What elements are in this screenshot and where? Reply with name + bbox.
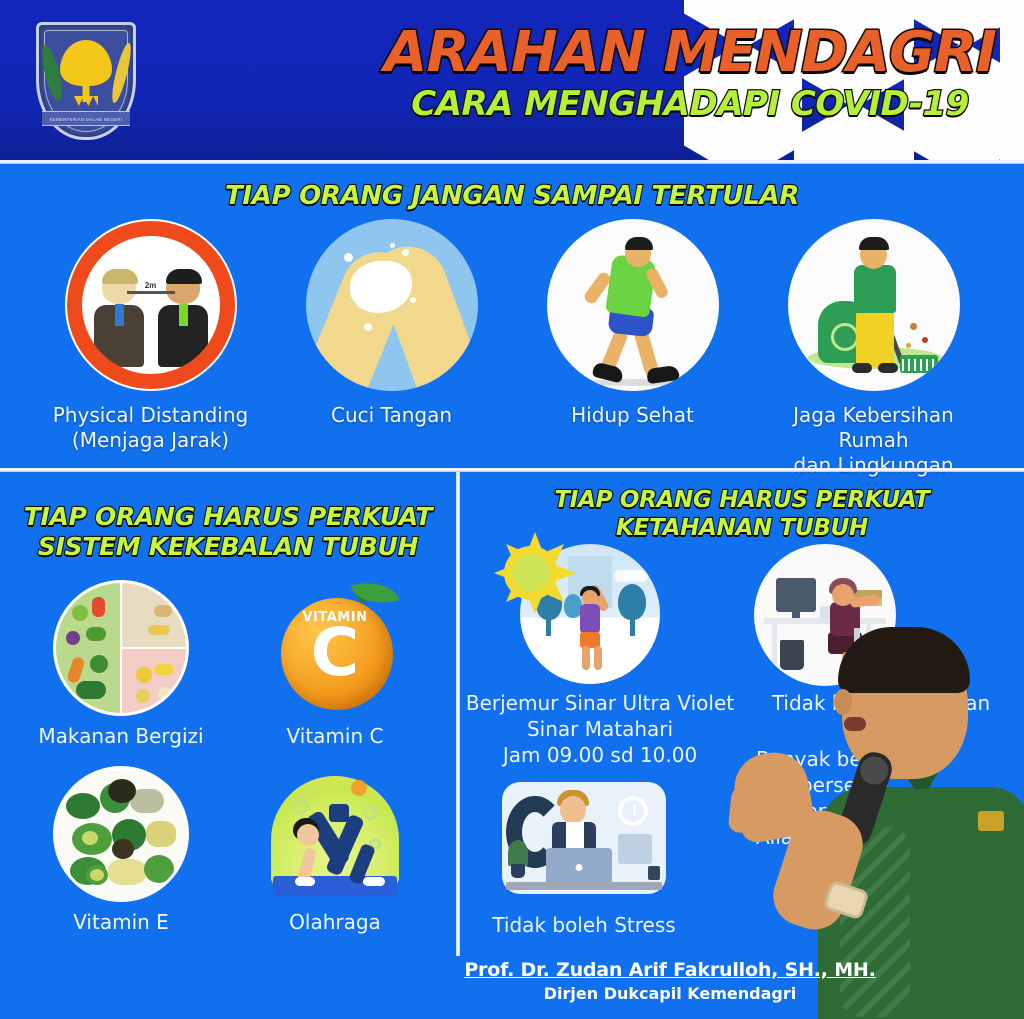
heading-line-1: TIAP ORANG HARUS PERKUAT <box>554 487 929 513</box>
salad-bowl-icon <box>53 766 189 902</box>
immunity-item-nutrition: Makanan Bergizi <box>14 580 228 748</box>
immunity-item-vitamin-c: VITAMIN C Vitamin C <box>228 580 442 748</box>
header-divider <box>0 160 1024 164</box>
immunity-item-label: Vitamin E <box>14 910 228 934</box>
vitamin-badge-letter: C <box>267 620 403 686</box>
stress-label: Tidak boleh Stress <box>472 912 696 938</box>
speaker-position: Dirjen Dukcapil Kemendagri <box>460 983 880 1005</box>
immunity-item-exercise: Olahraga <box>228 766 442 934</box>
prevention-item-label: Jaga Kebersihan Rumah dan Lingkungan <box>758 403 990 478</box>
kemendagri-emblem-icon: KEMENTERIAN DALAM NEGERI <box>36 22 136 140</box>
yoga-exercise-icon <box>267 766 403 902</box>
label-line-2: (Menjaga Jarak) <box>72 428 229 452</box>
prevention-heading: TIAP ORANG JANGAN SAMPAI TERTULAR <box>0 167 1024 211</box>
page-subtitle: CARA MENGHADAPI COVID-19 <box>380 84 1000 124</box>
prevention-item-wash-hands: Cuci Tangan <box>276 219 508 428</box>
prevention-item-label: Hidup Sehat <box>517 403 749 428</box>
label-line-1: Physical Distanding <box>53 403 249 427</box>
title-block: ARAHAN MENDAGRI CARA MENGHADAPI COVID-19 <box>380 24 1000 124</box>
physical-distancing-icon: 2m <box>65 219 237 391</box>
cleaning-person-icon <box>788 219 960 391</box>
label-line-3: Jam 09.00 sd 10.00 <box>503 743 697 767</box>
label-line-2: Sinar Matahari <box>527 717 673 741</box>
prevention-item-physical-distancing: 2m Physical Distanding (Menjaga Jarak) <box>35 219 267 453</box>
prevention-item-clean-home: Jaga Kebersihan Rumah dan Lingkungan <box>758 219 990 478</box>
prevention-item-label: Physical Distanding (Menjaga Jarak) <box>35 403 267 453</box>
wash-hands-icon <box>306 219 478 391</box>
running-person-icon <box>547 219 719 391</box>
prevention-item-healthy-living: Hidup Sehat <box>517 219 749 428</box>
section-immunity: TIAP ORANG HARUS PERKUAT SISTEM KEKEBALA… <box>0 472 456 1019</box>
speaker-name: Prof. Dr. Zudan Arif Fakrulloh, SH., MH. <box>460 957 880 983</box>
infographic-poster: KEMENTERIAN DALAM NEGERI ARAHAN MENDAGRI… <box>0 0 1024 1019</box>
emblem-ribbon-text: KEMENTERIAN DALAM NEGERI <box>42 112 130 127</box>
immunity-item-label: Makanan Bergizi <box>14 724 228 748</box>
label-line-1: Jaga Kebersihan Rumah <box>793 403 954 452</box>
stressed-at-laptop-icon <box>494 778 674 918</box>
immunity-item-vitamin-e: Vitamin E <box>14 766 228 934</box>
heading-line-2: SISTEM KEKEBALAN TUBUH <box>38 532 418 561</box>
section-resilience: TIAP ORANG HARUS PERKUAT KETAHANAN TUBUH <box>460 472 1024 1019</box>
nutrition-plate-icon <box>53 580 189 716</box>
prevention-item-label: Cuci Tangan <box>276 403 508 428</box>
label-line-1: Berjemur Sinar Ultra Violet <box>466 691 734 715</box>
immunity-item-label: Vitamin C <box>228 724 442 748</box>
poster-header: KEMENTERIAN DALAM NEGERI ARAHAN MENDAGRI… <box>0 0 1024 163</box>
speaker-credit: Prof. Dr. Zudan Arif Fakrulloh, SH., MH.… <box>460 957 880 1005</box>
vitamin-c-icon: VITAMIN C <box>267 580 403 716</box>
sunbathing-label: Berjemur Sinar Ultra Violet Sinar Mataha… <box>460 690 740 768</box>
heading-line-1: TIAP ORANG HARUS PERKUAT <box>24 502 432 531</box>
page-title: ARAHAN MENDAGRI <box>380 24 1000 82</box>
immunity-item-label: Olahraga <box>228 910 442 934</box>
section-prevention: TIAP ORANG JANGAN SAMPAI TERTULAR 2m Phy… <box>0 167 1024 467</box>
immunity-heading: TIAP ORANG HARUS PERKUAT SISTEM KEKEBALA… <box>0 472 456 562</box>
sun-icon <box>488 530 574 616</box>
heading-line-2: KETAHANAN TUBUH <box>616 515 868 541</box>
